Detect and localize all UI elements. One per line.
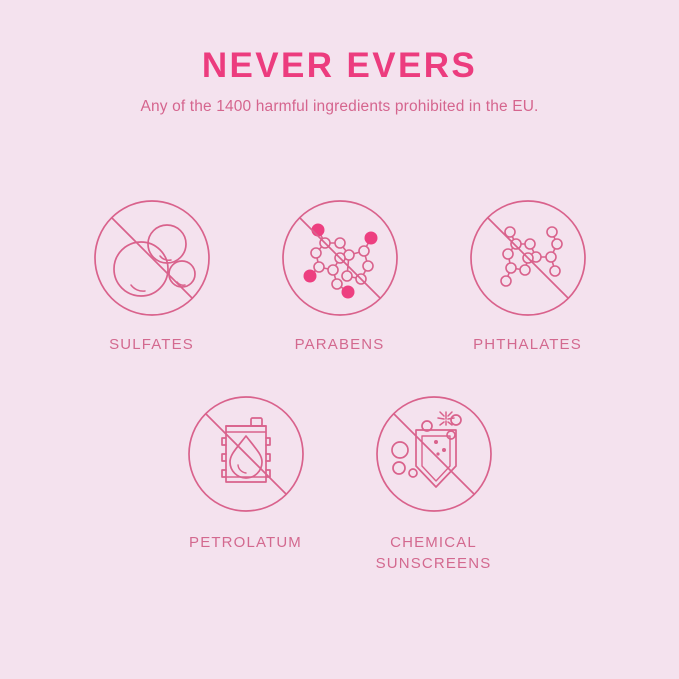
page-title: NEVER EVERS: [0, 44, 679, 88]
ingredient-item-phthalates: PHTHALATES: [434, 196, 622, 355]
ingredient-label-chemical-sunscreens: CHEMICAL SUNSCREENS: [376, 532, 492, 574]
ingredient-item-petrolatum: PETROLATUM: [152, 392, 340, 574]
ingredient-row-1: SULFATES: [0, 196, 679, 355]
ingredient-label-petrolatum: PETROLATUM: [189, 532, 302, 553]
no-parabens-molecule-icon: [278, 196, 402, 320]
ingredient-label-sulfates: SULFATES: [109, 334, 194, 355]
no-sulfates-bubbles-icon: [90, 196, 214, 320]
ingredient-item-sulfates: SULFATES: [58, 196, 246, 355]
ingredient-item-parabens: PARABENS: [246, 196, 434, 355]
no-petrolatum-oil-drum-icon: [184, 392, 308, 516]
never-evers-infographic: NEVER EVERS Any of the 1400 harmful ingr…: [0, 0, 679, 679]
ingredient-item-chemical-sunscreens: CHEMICAL SUNSCREENS: [340, 392, 528, 574]
ingredient-label-phthalates: PHTHALATES: [473, 334, 582, 355]
page-subtitle: Any of the 1400 harmful ingredients proh…: [0, 96, 679, 118]
no-phthalates-molecule-icon: [466, 196, 590, 320]
no-chemical-sunscreens-shield-icon: [372, 392, 496, 516]
ingredient-row-2: PETROLATUM: [0, 392, 679, 574]
header: NEVER EVERS Any of the 1400 harmful ingr…: [0, 44, 679, 118]
ingredient-label-parabens: PARABENS: [295, 334, 385, 355]
